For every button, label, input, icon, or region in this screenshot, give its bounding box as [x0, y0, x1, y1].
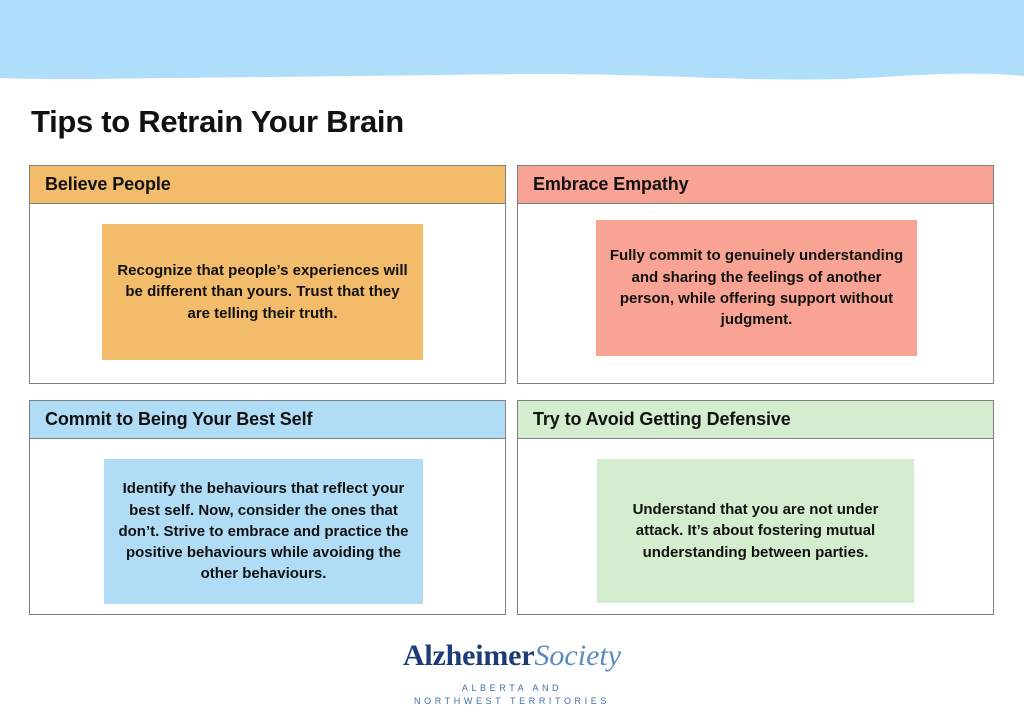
logo-word-alzheimer: Alzheimer — [403, 639, 534, 672]
card-believe-people: Believe People Recognize that people’s e… — [29, 165, 506, 384]
page-title: Tips to Retrain Your Brain — [31, 104, 404, 140]
logo-wordmark: AlzheimerSociety — [0, 640, 1024, 672]
top-banner — [0, 0, 1024, 92]
logo-region-line-1: ALBERTA AND — [0, 682, 1024, 696]
wave-banner-shape — [0, 0, 1024, 92]
logo-region-line-2: NORTHWEST TERRITORIES — [0, 695, 1024, 709]
card-title-try-to-avoid-getting-defensive: Try to Avoid Getting Defensive — [518, 409, 791, 430]
card-header-try-to-avoid-getting-defensive: Try to Avoid Getting Defensive — [518, 401, 993, 439]
card-embrace-empathy: Embrace Empathy Fully commit to genuinel… — [517, 165, 994, 384]
logo-word-society: Society — [534, 639, 621, 672]
note-try-to-avoid-getting-defensive: Understand that you are not under attack… — [597, 459, 914, 603]
card-title-believe-people: Believe People — [30, 174, 171, 195]
tips-card-grid: Believe People Recognize that people’s e… — [29, 165, 994, 615]
alzheimer-society-logo: AlzheimerSociety ALBERTA AND NORTHWEST T… — [0, 640, 1024, 709]
card-header-embrace-empathy: Embrace Empathy — [518, 166, 993, 204]
card-title-commit-to-being-your-best-self: Commit to Being Your Best Self — [30, 409, 312, 430]
card-body-embrace-empathy: Fully commit to genuinely understanding … — [518, 204, 993, 383]
note-embrace-empathy: Fully commit to genuinely understanding … — [596, 220, 917, 356]
note-commit-to-being-your-best-self: Identify the behaviours that reflect you… — [104, 459, 423, 604]
card-body-believe-people: Recognize that people’s experiences will… — [30, 204, 505, 383]
card-header-commit-to-being-your-best-self: Commit to Being Your Best Self — [30, 401, 505, 439]
card-header-believe-people: Believe People — [30, 166, 505, 204]
note-believe-people: Recognize that people’s experiences will… — [102, 224, 423, 360]
card-commit-to-being-your-best-self: Commit to Being Your Best Self Identify … — [29, 400, 506, 615]
card-try-to-avoid-getting-defensive: Try to Avoid Getting Defensive Understan… — [517, 400, 994, 615]
card-title-embrace-empathy: Embrace Empathy — [518, 174, 689, 195]
card-body-try-to-avoid-getting-defensive: Understand that you are not under attack… — [518, 439, 993, 614]
card-body-commit-to-being-your-best-self: Identify the behaviours that reflect you… — [30, 439, 505, 614]
